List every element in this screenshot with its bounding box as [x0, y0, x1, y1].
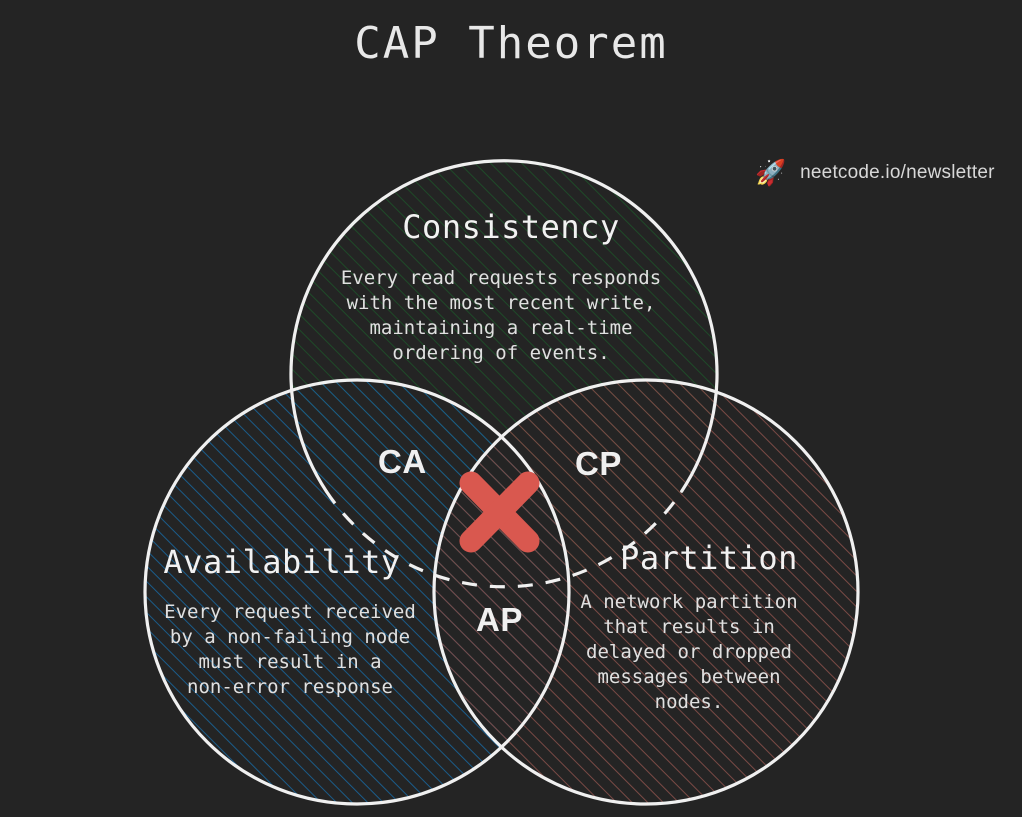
circle-title-partition: Partition: [459, 539, 959, 577]
overlap-label-ap: AP: [476, 601, 523, 639]
overlap-label-cp: CP: [575, 445, 622, 483]
circle-title-consistency: Consistency: [0, 208, 1022, 246]
overlap-label-ca: CA: [378, 443, 427, 481]
circle-body-partition: A network partition that results in dela…: [464, 590, 914, 715]
cap-theorem-diagram: CAP Theorem 🚀 neetcode.io/newsletter: [0, 0, 1022, 817]
circle-title-availability: Availability: [32, 543, 532, 581]
circle-body-consistency: Every read requests responds with the mo…: [251, 266, 751, 366]
